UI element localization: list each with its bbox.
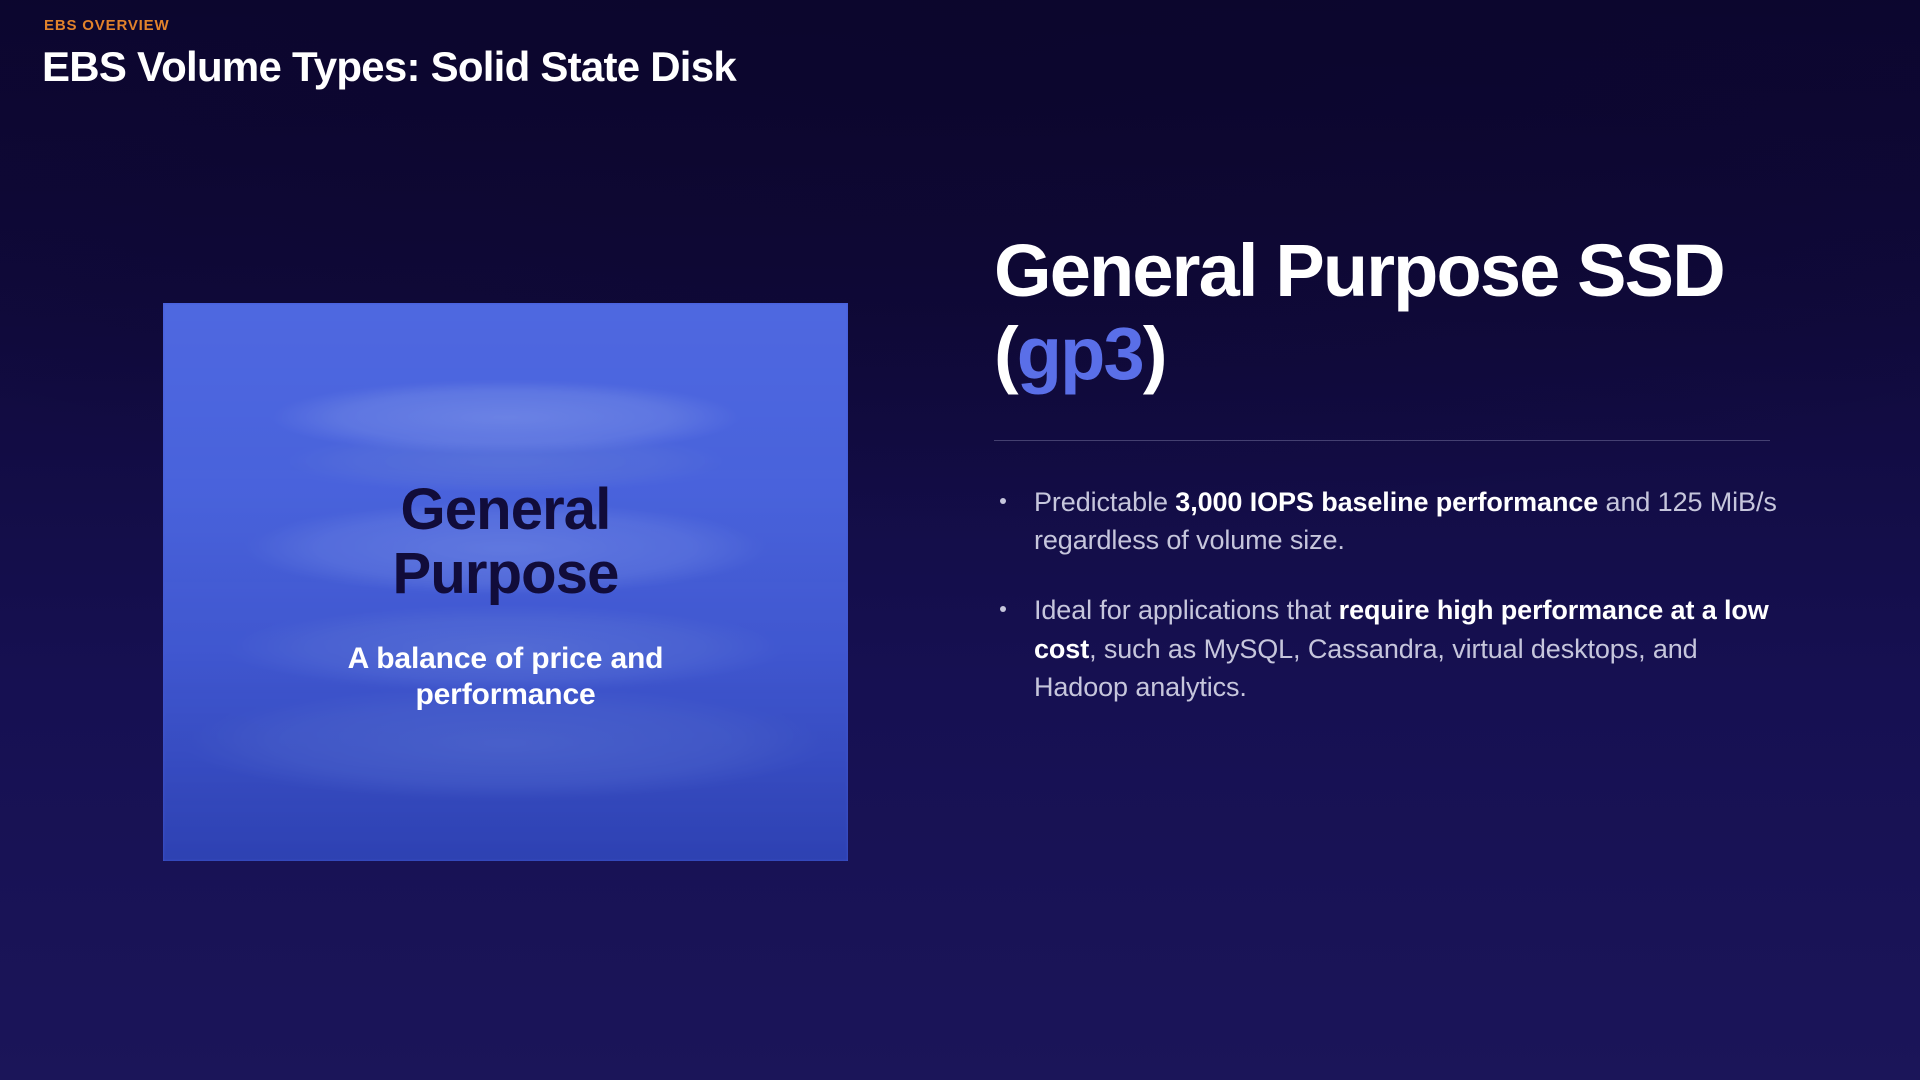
eyebrow-label: EBS OVERVIEW: [44, 18, 1242, 33]
bullet-text: Ideal for applications that: [1034, 595, 1339, 625]
list-item: Predictable 3,000 IOPS baseline performa…: [994, 483, 1784, 560]
bullet-emphasis: 3,000 IOPS baseline performance: [1175, 487, 1598, 517]
bullet-dot-icon: [1000, 606, 1006, 612]
content-heading-accent: gp3: [1017, 312, 1143, 395]
list-item: Ideal for applications that require high…: [994, 591, 1784, 706]
media-card-text: General Purpose A balance of price and p…: [163, 303, 848, 861]
bullet-list: Predictable 3,000 IOPS baseline performa…: [994, 483, 1784, 707]
bullet-text: , such as MySQL, Cassandra, virtual desk…: [1034, 634, 1698, 702]
media-card: General Purpose A balance of price and p…: [163, 303, 848, 861]
heading-divider: [994, 440, 1770, 441]
slide-header: EBS OVERVIEW EBS Volume Types: Solid Sta…: [42, 18, 1242, 90]
content-panel: General Purpose SSD (gp3) Predictable 3,…: [994, 230, 1784, 706]
bullet-text: Predictable: [1034, 487, 1175, 517]
media-card-heading: General Purpose: [296, 478, 716, 606]
slide: EBS OVERVIEW EBS Volume Types: Solid Sta…: [0, 0, 1920, 1080]
media-card-subtitle: A balance of price and performance: [306, 641, 706, 712]
page-title: EBS Volume Types: Solid State Disk: [42, 45, 1242, 90]
content-heading: General Purpose SSD (gp3): [994, 230, 1784, 396]
content-heading-suffix: ): [1143, 312, 1166, 395]
bullet-dot-icon: [1000, 498, 1006, 504]
